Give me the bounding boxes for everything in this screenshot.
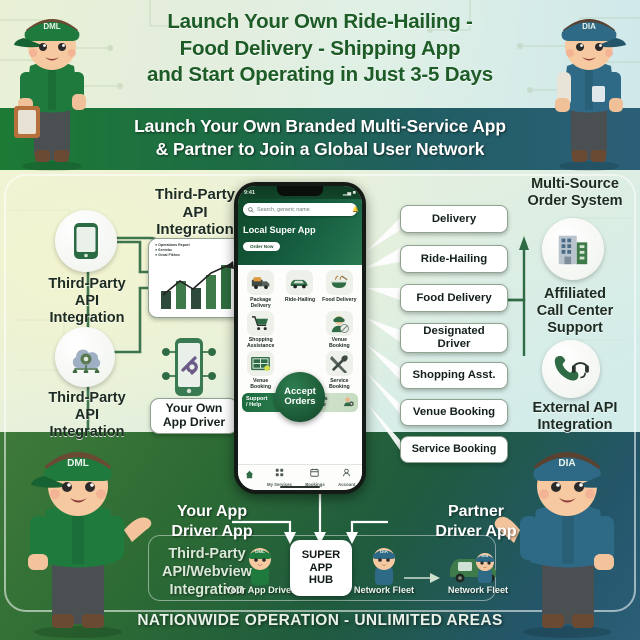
report-bullets: ● Operations Report ● Servebc ● Groal Fl… [153,243,239,259]
car-icon [286,270,313,295]
hero-cta-button[interactable]: Order Now [243,242,280,251]
hub-line-3: HUB [302,574,341,587]
right-label-mid: Affiliated Call Center Support [512,286,638,337]
phone-status-bar: 9:41 ▁▄ ■ [238,186,362,199]
service-pill-venue-booking[interactable]: Venue Booking [400,399,508,426]
left-label-mid-line-1: Third-Party [14,390,160,407]
headset-phone-icon-circle [542,340,600,398]
right-label-bottom: External API Integration [512,400,638,434]
page-title: Launch Your Own Ride-Hailing - Food Deli… [104,9,536,89]
left-label-top-line-3: Integration [14,310,160,327]
service-pill-service-booking[interactable]: Service Booking [400,436,508,463]
tile-venue-booking-driver[interactable]: Venue Booking [321,311,358,350]
footer-banner: NATIONWIDE OPERATION - UNLIMITED AREAS [0,602,640,640]
driver-card-line-1: Your Own [166,402,223,416]
caption-network-fleet-2: Network Fleet [438,585,518,595]
infographic-root: Launch Your Own Ride-Hailing - Food Deli… [0,0,640,640]
pill-label: Venue Booking [413,406,495,419]
tile-shopping-assistance[interactable]: Shopping Assistance [242,311,279,350]
svg-text:DML: DML [43,22,60,31]
service-pill-shopping-asst[interactable]: Shopping Asst. [400,362,508,389]
right-label-top-line-1: Multi-Source [512,176,638,193]
driver-person-icon [326,311,353,336]
service-pill-food-delivery[interactable]: Food Delivery [400,284,508,312]
nav-account[interactable]: Account [338,464,355,488]
nav-bookings[interactable]: Bookings [305,464,325,488]
growth-bar-chart [153,259,241,311]
page-subtitle: Launch Your Own Branded Multi-Service Ap… [78,115,562,162]
pill-label: Service Booking [412,444,497,456]
caption-network-fleet-1: Network Fleet [348,585,420,595]
phone-notch [277,186,323,196]
office-building-icon-circle [542,218,604,280]
footer-text: NATIONWIDE OPERATION - UNLIMITED AREAS [137,612,502,630]
page-title-line-1: Launch Your Own Ride-Hailing - [104,9,536,36]
service-pill-delivery[interactable]: Delivery [400,205,508,233]
hub-line-2: APP [302,562,341,575]
super-app-hub-box: SUPER APP HUB [290,540,352,596]
grid-icon [275,468,284,477]
figure-network-fleet-van: DIA [446,545,510,590]
service-pill-designated-driver[interactable]: Designated Driver [400,323,508,353]
right-label-mid-line-2: Call Center [512,303,638,320]
phone-screen: 9:41 ▁▄ ■ Search, generic name 🔔 Local S… [238,186,362,490]
tile-label: Package Delivery [242,297,279,309]
bell-icon[interactable]: 🔔 [352,207,359,213]
tile-ride-hailing[interactable]: Ride-Hailing [281,270,318,309]
search-input[interactable]: Search, generic name 🔔 [243,203,357,216]
svg-text:DML: DML [67,458,89,469]
page-title-line-2: Food Delivery - Shipping App [104,36,536,63]
tennis-court-icon [247,351,274,376]
service-pill-ride-hailing[interactable]: Ride-Hailing [400,245,508,273]
pill-label-line-2: Driver [438,338,471,351]
your-own-app-driver-card: Your Own App Driver [150,398,238,434]
pill-label: Delivery [432,213,476,226]
tile-label: Service Booking [321,378,358,390]
operations-report-card: ● Operations Report ● Servebc ● Groal Fl… [148,238,244,318]
pill-label: Food Delivery [416,292,491,305]
home-icon [245,470,254,479]
status-time: 9:41 [244,190,255,196]
calendar-icon [310,468,319,477]
pill-label: Ride-Hailing [421,253,487,266]
mascot-top-left: DML [4,2,100,172]
figure-your-app-driver: DML [238,543,282,590]
left-label-top-line-1: Third-Party [14,276,160,293]
tools-icon [326,351,353,376]
phone-mockup: 9:41 ▁▄ ■ Search, generic name 🔔 Local S… [234,182,366,494]
noodle-bowl-icon [326,270,353,295]
accept-orders-button[interactable]: Accept Orders [275,372,325,422]
tile-label: Food Delivery [321,297,358,303]
cloud-gear-icon-circle [55,327,115,387]
left-title-line-1: Your App [146,502,278,522]
tile-label: Venue Booking [321,337,358,349]
pill-label: Shopping Asst. [412,369,495,382]
accept-line-2: Orders [284,397,316,407]
nav-my-services[interactable]: My Services [267,464,292,488]
left-label-top: Third-Party API Integration [14,276,160,327]
right-title-line-1: Partner [400,502,552,522]
tile-label: Ride-Hailing [281,297,318,303]
phone-link-icon [158,332,220,404]
left-label-top-line-2: API [14,293,160,310]
tile-food-delivery[interactable]: Food Delivery [321,270,358,309]
smartphone-icon-circle [55,210,117,272]
home-indicator [280,486,320,488]
right-label-mid-line-3: Support [512,320,638,337]
pill-label-line-1: Designated [423,325,484,338]
right-label-top-line-2: Order System [512,193,638,210]
right-label-top: Multi-Source Order System [512,176,638,210]
hub-line-1: SUPER [302,549,341,562]
svg-text:DIA: DIA [582,22,596,31]
phone-bottom-nav: My Services Bookings Account [238,464,362,490]
caption-your-app-driver: Your App Driver [224,585,296,595]
status-signal-icons: ▁▄ ■ [343,190,356,196]
profile-gear-icon [343,396,354,409]
nav-home[interactable] [245,466,254,485]
tile-label: Shopping Assistance [242,337,279,349]
figure-network-fleet-person: DIA [362,543,406,590]
svg-text:DML: DML [255,549,265,554]
svg-text:DIA: DIA [482,553,489,558]
truck-icon [247,270,274,295]
office-building-icon [554,230,592,268]
right-label-bottom-line-1: External API [512,400,638,417]
cloud-gear-icon [66,341,104,373]
search-icon [248,207,254,213]
headset-phone-icon [552,353,590,385]
tile-spacer-center [281,311,318,350]
page-title-line-3: and Start Operating in Just 3-5 Days [104,62,536,89]
smartphone-icon [71,222,101,260]
services-grid: Package Delivery Ride-Hailing [238,265,362,390]
tile-venue-booking-court[interactable]: Venue Booking [242,351,279,390]
search-placeholder-text: Search, generic name [257,207,310,213]
tile-label: Venue Booking [242,378,279,390]
svg-text:DIA: DIA [558,458,575,469]
left-label-mid-line-2: API [14,407,160,424]
right-label-bottom-line-2: Integration [512,417,638,434]
page-subtitle-line-1: Launch Your Own Branded Multi-Service Ap… [78,115,562,138]
left-label-mid: Third-Party API Integration [14,390,160,441]
hero-title: Local Super App [243,225,357,235]
shopping-cart-icon [247,311,274,336]
driver-card-line-2: App Driver [163,416,225,430]
tile-service-booking[interactable]: Service Booking [321,351,358,390]
mascot-top-right: DIA [540,2,638,172]
phone-hero-banner: Search, generic name 🔔 Local Super App O… [238,199,362,265]
page-subtitle-line-2: & Partner to Join a Global User Network [78,138,562,161]
right-label-mid-line-1: Affiliated [512,286,638,303]
person-icon [342,468,351,477]
tile-package-delivery[interactable]: Package Delivery [242,270,279,309]
svg-text:DIA: DIA [380,549,389,554]
